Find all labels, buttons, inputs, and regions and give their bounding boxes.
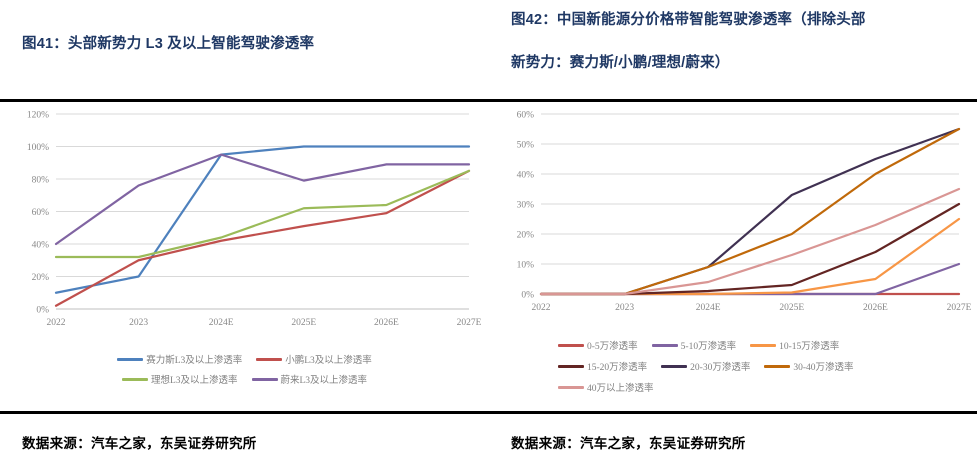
y-axis-tick-label: 40% xyxy=(32,241,50,251)
x-axis-tick-label: 2024E xyxy=(209,318,234,328)
legend-item[interactable]: 理想L3及以上渗透率 xyxy=(122,372,238,386)
legend-label: 15-20万渗透率 xyxy=(587,359,647,373)
x-axis-tick-label: 2024E xyxy=(696,303,721,313)
figure-panel-right: 图42：中国新能源分价格带智能驾驶渗透率（排除头部 新势力：赛力斯/小鹏/理想/… xyxy=(489,0,977,473)
legend-label: 蔚来L3及以上渗透率 xyxy=(281,372,368,386)
y-axis-tick-label: 0% xyxy=(36,306,49,316)
legend-item[interactable]: 0-5万渗透率 xyxy=(558,338,638,352)
panel-right-bottom-rule xyxy=(489,411,977,414)
legend-swatch-icon xyxy=(764,365,790,368)
legend-swatch-icon xyxy=(558,344,584,347)
figure-41-source: 数据来源：汽车之家，东吴证券研究所 xyxy=(22,432,257,452)
legend-row: 15-20万渗透率20-30万渗透率30-40万渗透率 xyxy=(489,359,977,373)
legend-swatch-icon xyxy=(117,358,143,361)
y-axis-tick-label: 40% xyxy=(517,171,535,181)
figure-41-title: 图41：头部新势力 L3 及以上智能驾驶渗透率 xyxy=(0,0,489,55)
legend-item[interactable]: 10-15万渗透率 xyxy=(750,338,839,352)
panel-left-top-rule xyxy=(0,99,489,102)
x-axis-tick-label: 2022 xyxy=(532,303,551,313)
legend-item[interactable]: 20-30万渗透率 xyxy=(661,359,750,373)
legend-row: 赛力斯L3及以上渗透率小鹏L3及以上渗透率 xyxy=(0,352,489,366)
panel-left-bottom-rule xyxy=(0,411,489,414)
legend-swatch-icon xyxy=(652,344,678,347)
legend-label: 40万以上渗透率 xyxy=(587,380,654,394)
figure-41-title-line-1: 图41：头部新势力 L3 及以上智能驾驶渗透率 xyxy=(22,34,475,55)
y-axis-tick-label: 30% xyxy=(517,201,535,211)
figure-42-title-line-2: 新势力：赛力斯/小鹏/理想/蔚来） xyxy=(511,53,963,74)
series-line xyxy=(56,155,469,244)
legend-label: 0-5万渗透率 xyxy=(587,338,638,352)
legend-row: 0-5万渗透率5-10万渗透率10-15万渗透率 xyxy=(489,338,977,352)
legend-label: 赛力斯L3及以上渗透率 xyxy=(146,352,242,366)
y-axis-tick-label: 120% xyxy=(27,111,49,121)
x-axis-tick-label: 2023 xyxy=(129,318,148,328)
x-axis-tick-label: 2025E xyxy=(291,318,316,328)
legend-item[interactable]: 小鹏L3及以上渗透率 xyxy=(256,352,372,366)
y-axis-tick-label: 100% xyxy=(27,143,49,153)
series-line xyxy=(541,204,959,294)
legend-swatch-icon xyxy=(256,358,282,361)
y-axis-tick-label: 20% xyxy=(517,231,535,241)
y-axis-tick-label: 20% xyxy=(32,273,50,283)
figure-page: 图41：头部新势力 L3 及以上智能驾驶渗透率 0%20%40%60%80%10… xyxy=(0,0,977,473)
legend-item[interactable]: 40万以上渗透率 xyxy=(558,380,654,394)
x-axis-tick-label: 2027E xyxy=(947,303,972,313)
legend-label: 理想L3及以上渗透率 xyxy=(151,372,238,386)
x-axis-tick-label: 2026E xyxy=(863,303,888,313)
x-axis-tick-label: 2023 xyxy=(615,303,634,313)
legend-swatch-icon xyxy=(661,365,687,368)
x-axis-tick-label: 2026E xyxy=(374,318,399,328)
chart-42-legend: 0-5万渗透率5-10万渗透率10-15万渗透率15-20万渗透率20-30万渗… xyxy=(489,338,977,401)
y-axis-tick-label: 0% xyxy=(521,291,534,301)
y-axis-tick-label: 50% xyxy=(517,141,535,151)
legend-row: 理想L3及以上渗透率蔚来L3及以上渗透率 xyxy=(0,372,489,386)
series-line xyxy=(541,189,959,294)
y-axis-tick-label: 60% xyxy=(32,208,50,218)
figure-panel-left: 图41：头部新势力 L3 及以上智能驾驶渗透率 0%20%40%60%80%10… xyxy=(0,0,489,473)
legend-item[interactable]: 30-40万渗透率 xyxy=(764,359,853,373)
legend-item[interactable]: 5-10万渗透率 xyxy=(652,338,736,352)
legend-item[interactable]: 15-20万渗透率 xyxy=(558,359,647,373)
figure-42-title: 图42：中国新能源分价格带智能驾驶渗透率（排除头部 新势力：赛力斯/小鹏/理想/… xyxy=(489,0,977,74)
y-axis-tick-label: 10% xyxy=(517,261,535,271)
series-line xyxy=(56,171,469,306)
legend-label: 20-30万渗透率 xyxy=(690,359,750,373)
legend-label: 小鹏L3及以上渗透率 xyxy=(285,352,372,366)
legend-label: 30-40万渗透率 xyxy=(793,359,853,373)
legend-item[interactable]: 赛力斯L3及以上渗透率 xyxy=(117,352,242,366)
legend-swatch-icon xyxy=(252,378,278,381)
figure-42-source: 数据来源：汽车之家，东吴证券研究所 xyxy=(511,432,746,452)
chart-41-legend: 赛力斯L3及以上渗透率小鹏L3及以上渗透率理想L3及以上渗透率蔚来L3及以上渗透… xyxy=(0,352,489,392)
legend-swatch-icon xyxy=(558,386,584,389)
x-axis-tick-label: 2022 xyxy=(47,318,66,328)
legend-swatch-icon xyxy=(122,378,148,381)
panel-right-top-rule xyxy=(489,99,977,102)
y-axis-tick-label: 80% xyxy=(32,176,50,186)
y-axis-tick-label: 60% xyxy=(517,111,535,121)
legend-label: 5-10万渗透率 xyxy=(681,338,736,352)
legend-swatch-icon xyxy=(750,344,776,347)
legend-row: 40万以上渗透率 xyxy=(489,380,977,394)
figure-42-title-line-1: 图42：中国新能源分价格带智能驾驶渗透率（排除头部 xyxy=(511,10,963,31)
legend-swatch-icon xyxy=(558,365,584,368)
chart-42-canvas: 0%10%20%30%40%50%60%202220232024E2025E20… xyxy=(489,104,977,334)
x-axis-tick-label: 2025E xyxy=(779,303,804,313)
chart-41-canvas: 0%20%40%60%80%100%120%202220232024E2025E… xyxy=(0,104,489,344)
legend-item[interactable]: 蔚来L3及以上渗透率 xyxy=(252,372,368,386)
x-axis-tick-label: 2027E xyxy=(457,318,482,328)
legend-label: 10-15万渗透率 xyxy=(779,338,839,352)
